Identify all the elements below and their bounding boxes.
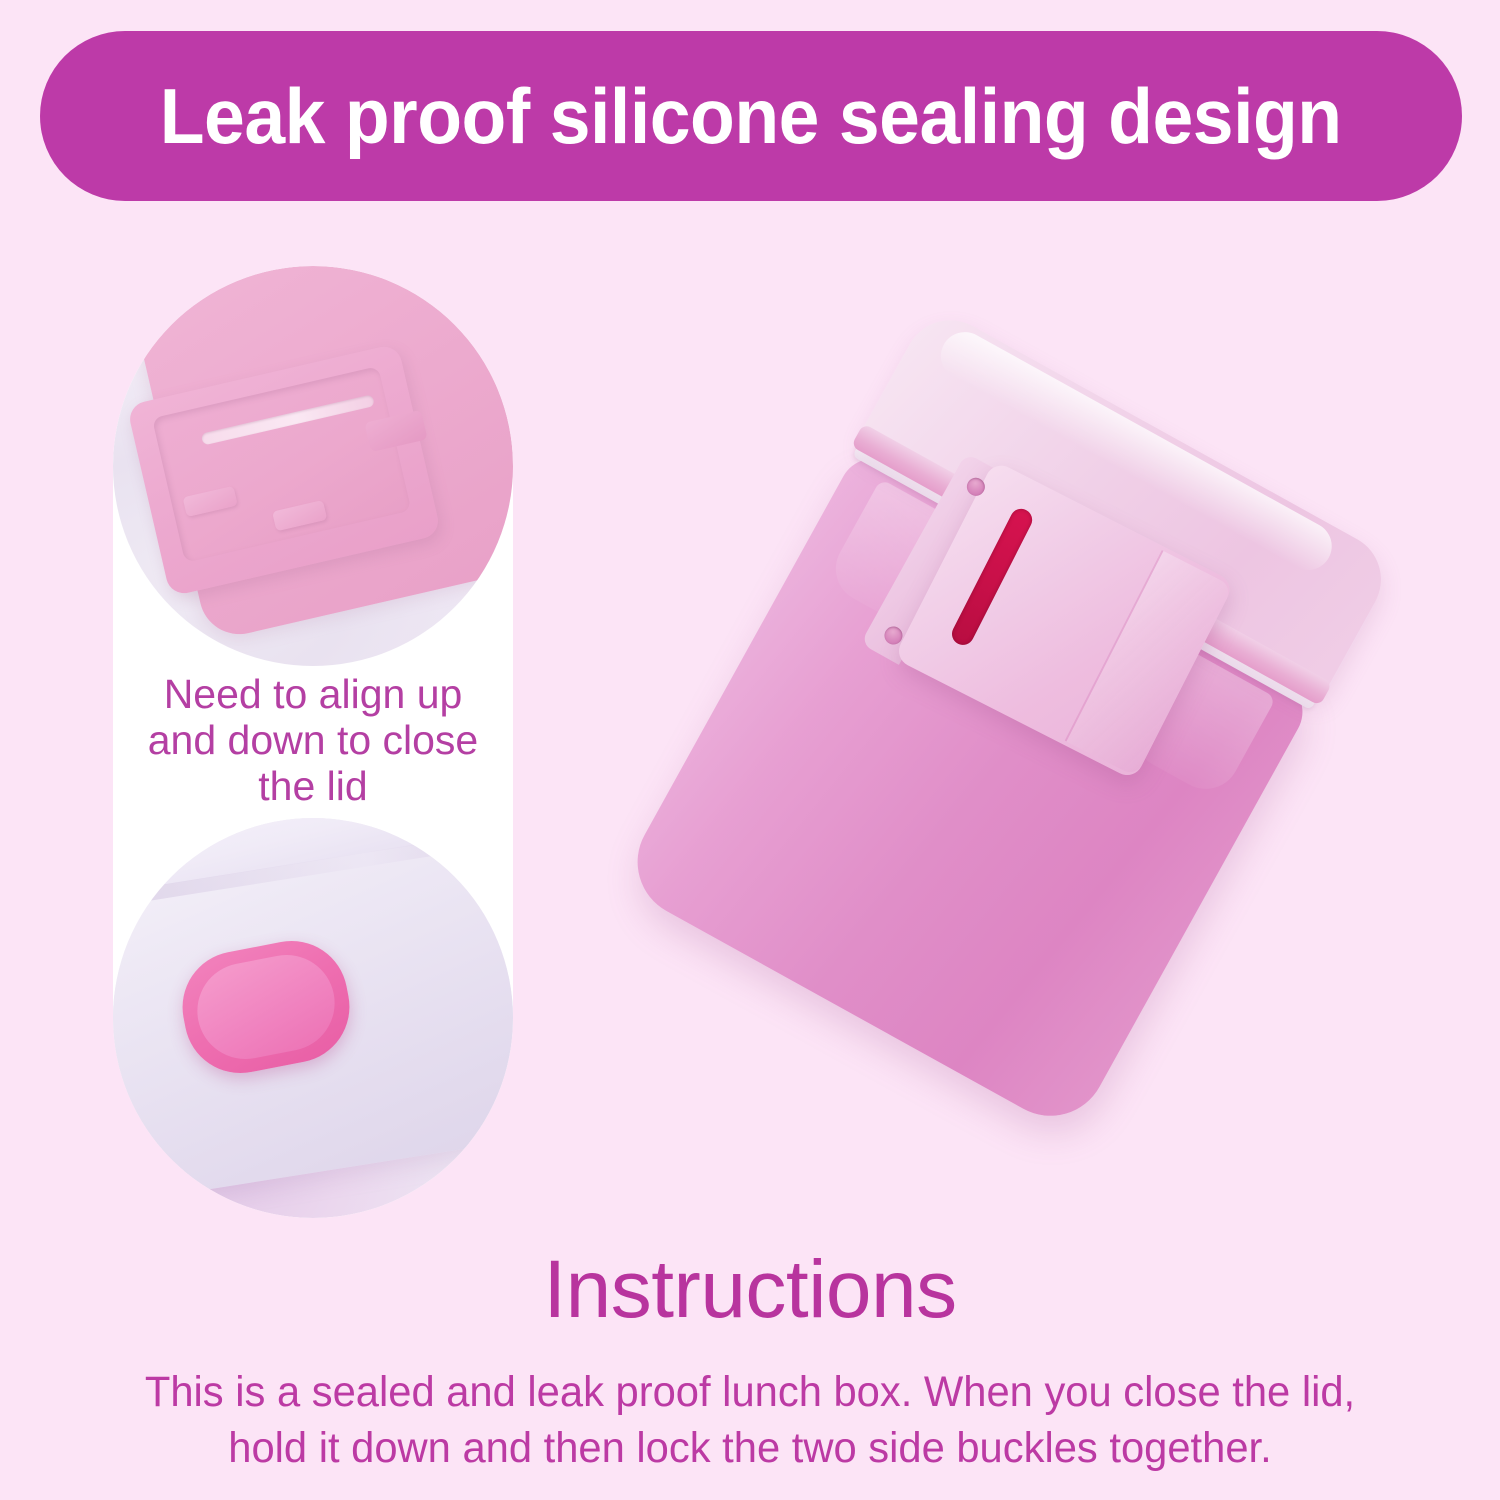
instructions-line-1: This is a sealed and leak proof lunch bo… bbox=[110, 1365, 1390, 1421]
instructions-line-2: hold it down and then lock the two side … bbox=[110, 1421, 1390, 1477]
header-banner: Leak proof silicone sealing design bbox=[40, 31, 1462, 201]
inset-caption: Need to align up and down to close the l… bbox=[113, 672, 513, 810]
latch-rib bbox=[183, 486, 238, 517]
instructions-heading: Instructions bbox=[0, 1249, 1500, 1331]
product-body-group bbox=[613, 315, 1388, 1144]
inset-caption-line-2: and down to close bbox=[148, 717, 479, 763]
silicone-valve-plug-inner bbox=[189, 947, 343, 1068]
photo-silicone-valve-closeup bbox=[113, 818, 513, 1218]
latch-slot bbox=[201, 394, 375, 445]
inset-caption-line-1: Need to align up bbox=[164, 671, 463, 717]
latch-rib bbox=[272, 500, 327, 531]
page-title: Leak proof silicone sealing design bbox=[160, 77, 1342, 155]
photo-buckle-latch-closeup bbox=[113, 266, 513, 666]
instructions-body: This is a sealed and leak proof lunch bo… bbox=[110, 1365, 1390, 1477]
buckle-slot bbox=[948, 505, 1036, 649]
inset-caption-line-3: the lid bbox=[258, 763, 367, 809]
product-photo-lunch-box bbox=[600, 290, 1500, 1190]
latch-buckle-inner bbox=[152, 366, 411, 562]
